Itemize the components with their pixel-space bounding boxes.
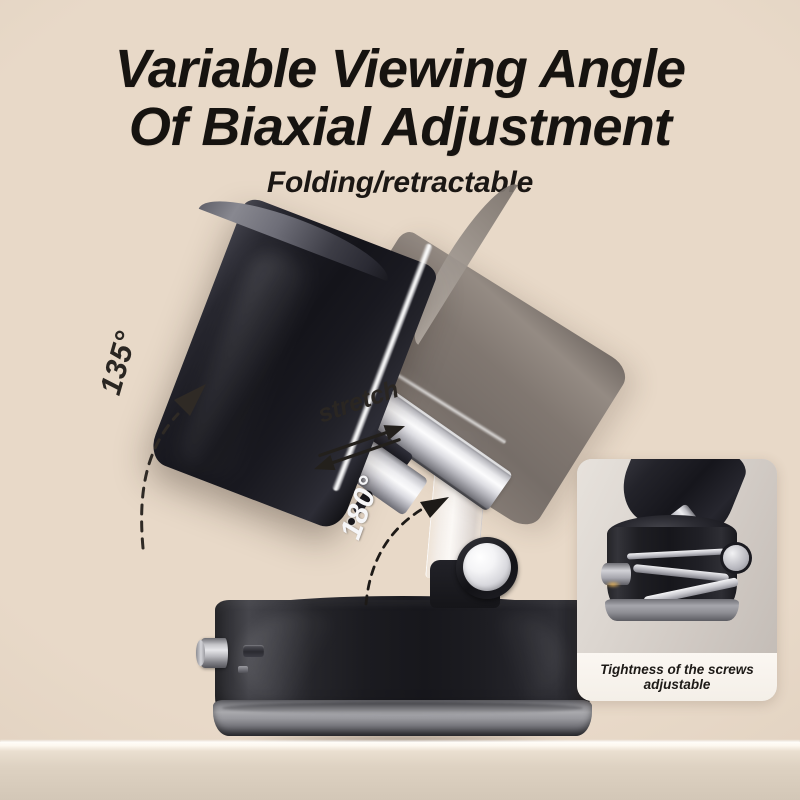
product-marketing-image: Variable Viewing Angle Of Biaxial Adjust… — [0, 0, 800, 800]
inset-base-rim — [605, 599, 739, 621]
inset-arm-joint — [723, 545, 749, 571]
inset-caption: Tightness of the screws adjustable — [577, 653, 777, 701]
detail-inset-panel: Tightness of the screws adjustable — [577, 459, 777, 701]
inset-screw-glint — [605, 581, 621, 588]
arc-dashed-arrow-icon — [366, 497, 449, 604]
curved-dashed-arrow-icon — [142, 384, 206, 548]
inset-photo — [577, 459, 777, 655]
inset-caption-line-1: Tightness of the screws — [600, 662, 754, 677]
inset-caption-line-2: adjustable — [644, 677, 711, 692]
